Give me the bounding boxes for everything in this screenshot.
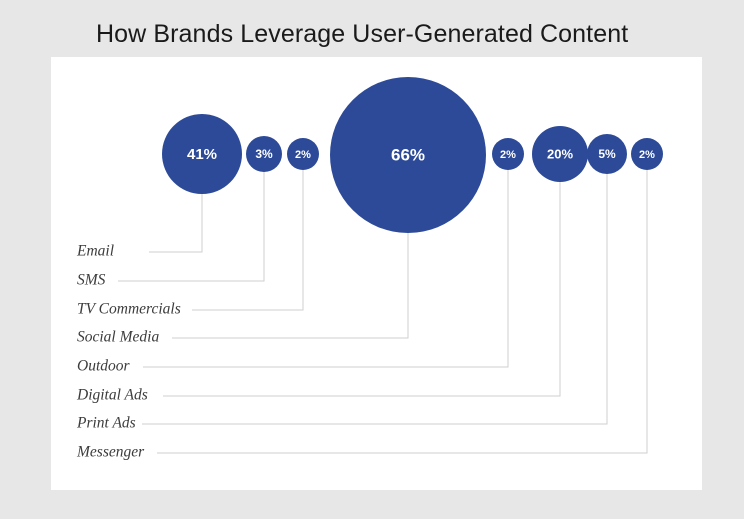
chart-card bbox=[51, 57, 702, 490]
page-title: How Brands Leverage User-Generated Conte… bbox=[96, 20, 628, 49]
